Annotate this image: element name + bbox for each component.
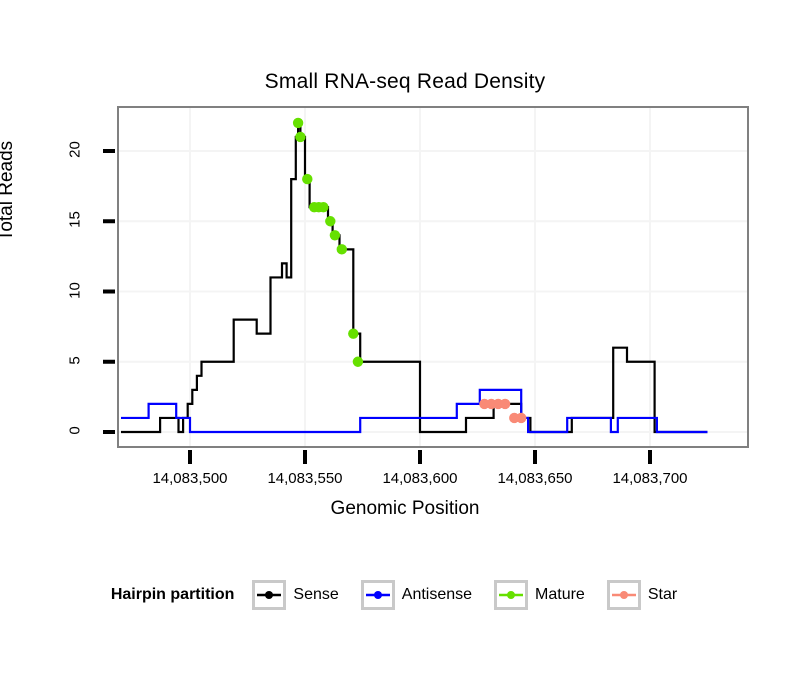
data-point-mature [318, 202, 328, 212]
y-tick-label: 15 [67, 200, 84, 240]
series-line-antisense [121, 390, 708, 432]
y-tick-label: 5 [67, 340, 84, 380]
data-point-star [516, 413, 526, 423]
legend-swatch-star [607, 580, 641, 610]
x-axis-label: Genomic Position [0, 498, 810, 520]
legend-label-sense: Sense [293, 586, 338, 604]
plot-area [117, 106, 749, 448]
legend-label-mature: Mature [535, 586, 585, 604]
legend-item-star[interactable]: Star [607, 580, 693, 610]
legend-label-star: Star [648, 586, 677, 604]
data-point-mature [330, 230, 340, 240]
legend-label-antisense: Antisense [402, 586, 472, 604]
chart-legend: Hairpin partition SenseAntisenseMatureSt… [0, 580, 810, 610]
data-point-mature [353, 357, 363, 367]
legend-swatch-mature [494, 580, 528, 610]
chart-title: Small RNA-seq Read Density [0, 70, 810, 94]
data-point-mature [325, 216, 335, 226]
y-axis-label: Total Reads [0, 41, 18, 341]
plot-canvas [119, 108, 747, 446]
x-tick-label: 14,083,550 [245, 470, 365, 487]
x-tick-label: 14,083,700 [590, 470, 710, 487]
x-tick-label: 14,083,600 [360, 470, 480, 487]
chart-page: Small RNA-seq Read Density Total Reads G… [0, 0, 810, 690]
legend-items: SenseAntisenseMatureStar [252, 580, 699, 610]
data-point-star [500, 399, 510, 409]
x-tick-label: 14,083,650 [475, 470, 595, 487]
legend-swatch-antisense [361, 580, 395, 610]
legend-swatch-sense [252, 580, 286, 610]
legend-title: Hairpin partition [111, 586, 235, 604]
data-point-mature [295, 132, 305, 142]
data-point-mature [337, 244, 347, 254]
x-tick-label: 14,083,500 [130, 470, 250, 487]
data-point-mature [348, 328, 358, 338]
y-tick-label: 0 [67, 411, 84, 451]
legend-item-antisense[interactable]: Antisense [361, 580, 488, 610]
data-point-mature [293, 118, 303, 128]
data-point-mature [302, 174, 312, 184]
legend-item-sense[interactable]: Sense [252, 580, 354, 610]
y-tick-label: 10 [67, 270, 84, 310]
legend-item-mature[interactable]: Mature [494, 580, 601, 610]
y-tick-label: 20 [67, 130, 84, 170]
series-line-sense [121, 123, 708, 432]
